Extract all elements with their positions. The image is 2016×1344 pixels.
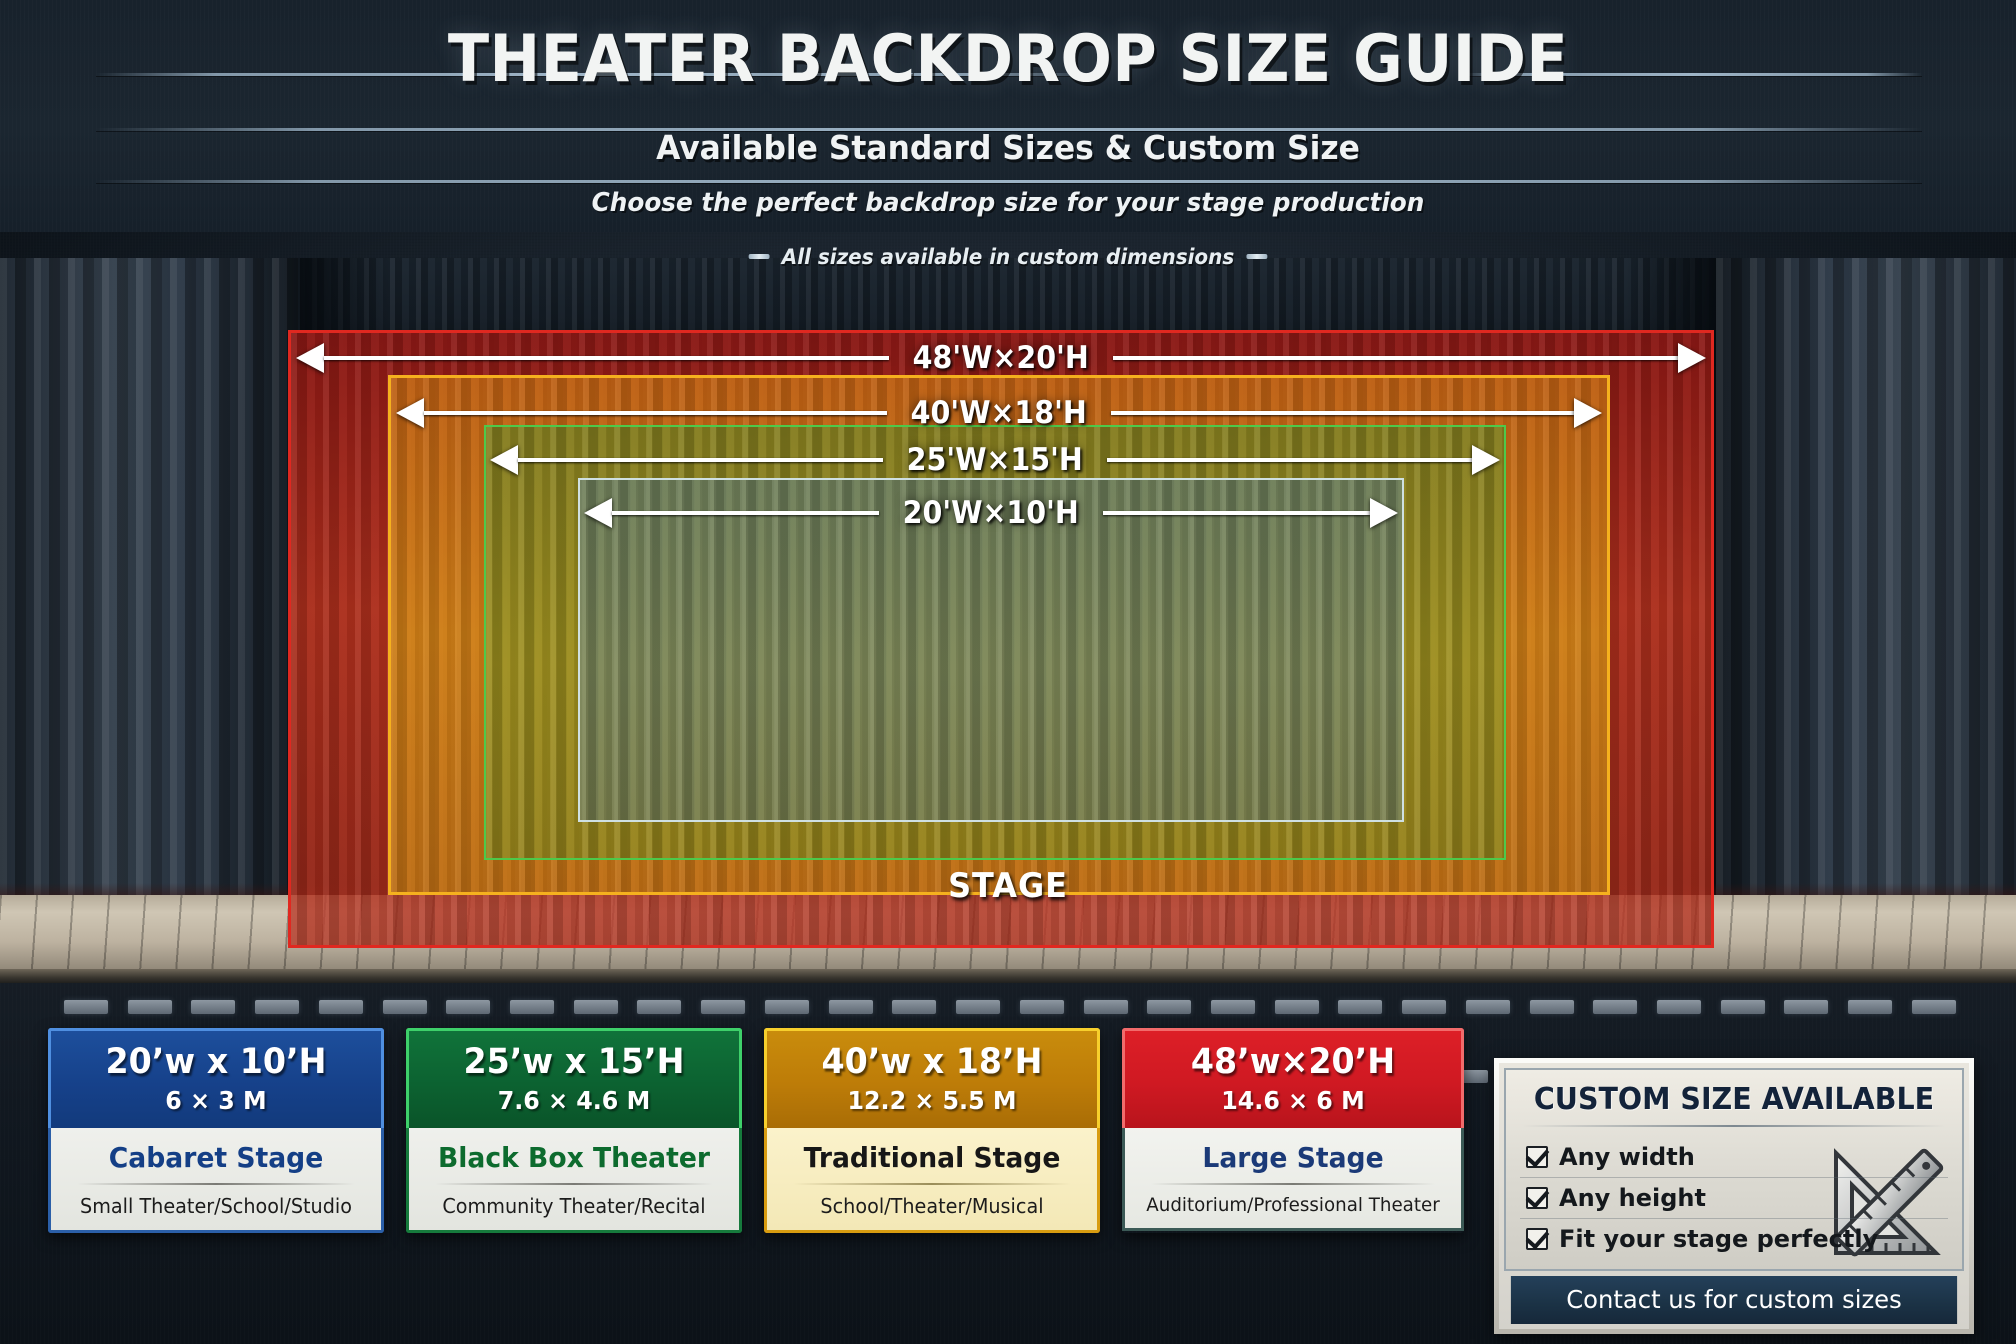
footlight <box>191 1000 235 1014</box>
card-size-metric: 7.6 × 4.6 M <box>425 1086 723 1115</box>
card-title: Traditional Stage <box>785 1141 1080 1174</box>
footlight <box>701 1000 745 1014</box>
footlight <box>1466 1000 1510 1014</box>
footlight <box>892 1000 936 1014</box>
footlight <box>1211 1000 1255 1014</box>
custom-feature-any-width[interactable]: Any width <box>1520 1137 1948 1177</box>
footlight <box>255 1000 299 1014</box>
card-header: 48’w×20’H 14.6 × 6 M <box>1122 1028 1464 1128</box>
card-use-case: Small Theater/School/Studio <box>67 1194 365 1218</box>
footlight <box>829 1000 873 1014</box>
card-size-imperial: 48’w×20’H <box>1141 1042 1445 1082</box>
custom-feature-label: Any width <box>1559 1143 1695 1171</box>
card-use-case: Auditorium/Professional Theater <box>1141 1194 1444 1216</box>
note-dash-right-icon <box>1247 254 1268 259</box>
header-divider-bottom <box>96 180 1922 183</box>
card-size-metric: 14.6 × 6 M <box>1141 1086 1445 1115</box>
footlight <box>128 1000 172 1014</box>
footlight <box>1402 1000 1446 1014</box>
stage-lip <box>0 969 2016 983</box>
footlight <box>1084 1000 1128 1014</box>
custom-size-panel-inner: CUSTOM SIZE AVAILABLE <box>1504 1068 1964 1271</box>
card-header: 20’w x 10’H 6 × 3 M <box>48 1028 384 1128</box>
card-size-metric: 6 × 3 M <box>67 1086 365 1115</box>
footlight <box>765 1000 809 1014</box>
note-dash-left-icon <box>749 254 770 259</box>
card-body: Cabaret Stage Small Theater/School/Studi… <box>48 1128 384 1233</box>
footlight <box>1338 1000 1382 1014</box>
footlight <box>1275 1000 1319 1014</box>
custom-size-divider <box>1522 1125 1946 1127</box>
card-title: Black Box Theater <box>427 1141 722 1174</box>
card-title: Cabaret Stage <box>69 1141 364 1174</box>
footlight <box>1912 1000 1956 1014</box>
checkbox-checked-icon[interactable] <box>1526 1187 1548 1209</box>
footlight <box>1657 1000 1701 1014</box>
card-title: Large Stage <box>1143 1141 1443 1174</box>
checkbox-checked-icon[interactable] <box>1526 1146 1548 1168</box>
card-size-imperial: 25’w x 15’H <box>425 1042 723 1082</box>
size-card-black-box-theater[interactable]: 25’w x 15’H 7.6 × 4.6 M Black Box Theate… <box>406 1028 742 1233</box>
footlight <box>1147 1000 1191 1014</box>
card-body: Traditional Stage School/Theater/Musical <box>764 1128 1100 1233</box>
card-body: Black Box Theater Community Theater/Reci… <box>406 1128 742 1233</box>
size-card-list: 20’w x 10’H 6 × 3 M Cabaret Stage Small … <box>48 1028 1464 1233</box>
custom-size-feature-list: Any width Any height Fit your stage perf… <box>1520 1137 1948 1259</box>
footlight <box>510 1000 554 1014</box>
footlight <box>637 1000 681 1014</box>
card-divider <box>1151 1183 1435 1185</box>
size-card-large-stage[interactable]: 48’w×20’H 14.6 × 6 M Large Stage Auditor… <box>1122 1028 1464 1233</box>
card-header: 40’w x 18’H 12.2 × 5.5 M <box>764 1028 1100 1128</box>
card-use-case: School/Theater/Musical <box>783 1194 1081 1218</box>
footlight <box>319 1000 363 1014</box>
footlight-strip <box>64 1000 1956 1016</box>
infographic-root: THEATER BACKDROP SIZE GUIDE Available St… <box>0 0 2016 1344</box>
footlight <box>1848 1000 1892 1014</box>
size-card-traditional-stage[interactable]: 40’w x 18’H 12.2 × 5.5 M Traditional Sta… <box>764 1028 1100 1233</box>
custom-size-title: CUSTOM SIZE AVAILABLE <box>1531 1082 1938 1117</box>
custom-dimensions-note: All sizes available in custom dimensions <box>50 245 1965 269</box>
footlight <box>1593 1000 1637 1014</box>
page-tagline: Choose the perfect backdrop size for you… <box>50 188 1965 218</box>
curtain-left <box>0 258 300 970</box>
custom-feature-label: Any height <box>1559 1184 1706 1212</box>
card-size-imperial: 20’w x 10’H <box>67 1042 365 1082</box>
size-card-cabaret-stage[interactable]: 20’w x 10’H 6 × 3 M Cabaret Stage Small … <box>48 1028 384 1233</box>
card-divider <box>435 1183 713 1185</box>
card-size-metric: 12.2 × 5.5 M <box>783 1086 1081 1115</box>
custom-feature-fit-stage[interactable]: Fit your stage perfectly <box>1520 1218 1948 1259</box>
stage-label: STAGE <box>60 866 1955 906</box>
card-body: Large Stage Auditorium/Professional Thea… <box>1122 1128 1464 1231</box>
footlight <box>1721 1000 1765 1014</box>
footlight <box>64 1000 108 1014</box>
page-title: THEATER BACKDROP SIZE GUIDE <box>71 22 1946 97</box>
footlight <box>574 1000 618 1014</box>
card-divider <box>77 1183 355 1185</box>
checkbox-checked-icon[interactable] <box>1526 1228 1548 1250</box>
size-rect-20x10-fill <box>580 480 1402 820</box>
custom-feature-any-height[interactable]: Any height <box>1520 1177 1948 1218</box>
card-size-imperial: 40’w x 18’H <box>783 1042 1081 1082</box>
footlight <box>383 1000 427 1014</box>
custom-feature-label: Fit your stage perfectly <box>1559 1225 1878 1253</box>
contact-cta[interactable]: Contact us for custom sizes <box>1511 1276 1957 1324</box>
curtain-right <box>1716 258 2016 970</box>
card-divider <box>793 1183 1071 1185</box>
footlight <box>1020 1000 1064 1014</box>
footlight <box>1784 1000 1828 1014</box>
note-text: All sizes available in custom dimensions <box>782 245 1234 269</box>
size-rect-20x10[interactable] <box>578 478 1404 822</box>
footlight <box>956 1000 1000 1014</box>
footlight <box>446 1000 490 1014</box>
card-header: 25’w x 15’H 7.6 × 4.6 M <box>406 1028 742 1128</box>
footlight <box>1530 1000 1574 1014</box>
custom-size-panel[interactable]: CUSTOM SIZE AVAILABLE <box>1494 1058 1974 1334</box>
card-use-case: Community Theater/Recital <box>425 1194 723 1218</box>
page-subtitle: Available Standard Sizes & Custom Size <box>50 128 1965 167</box>
